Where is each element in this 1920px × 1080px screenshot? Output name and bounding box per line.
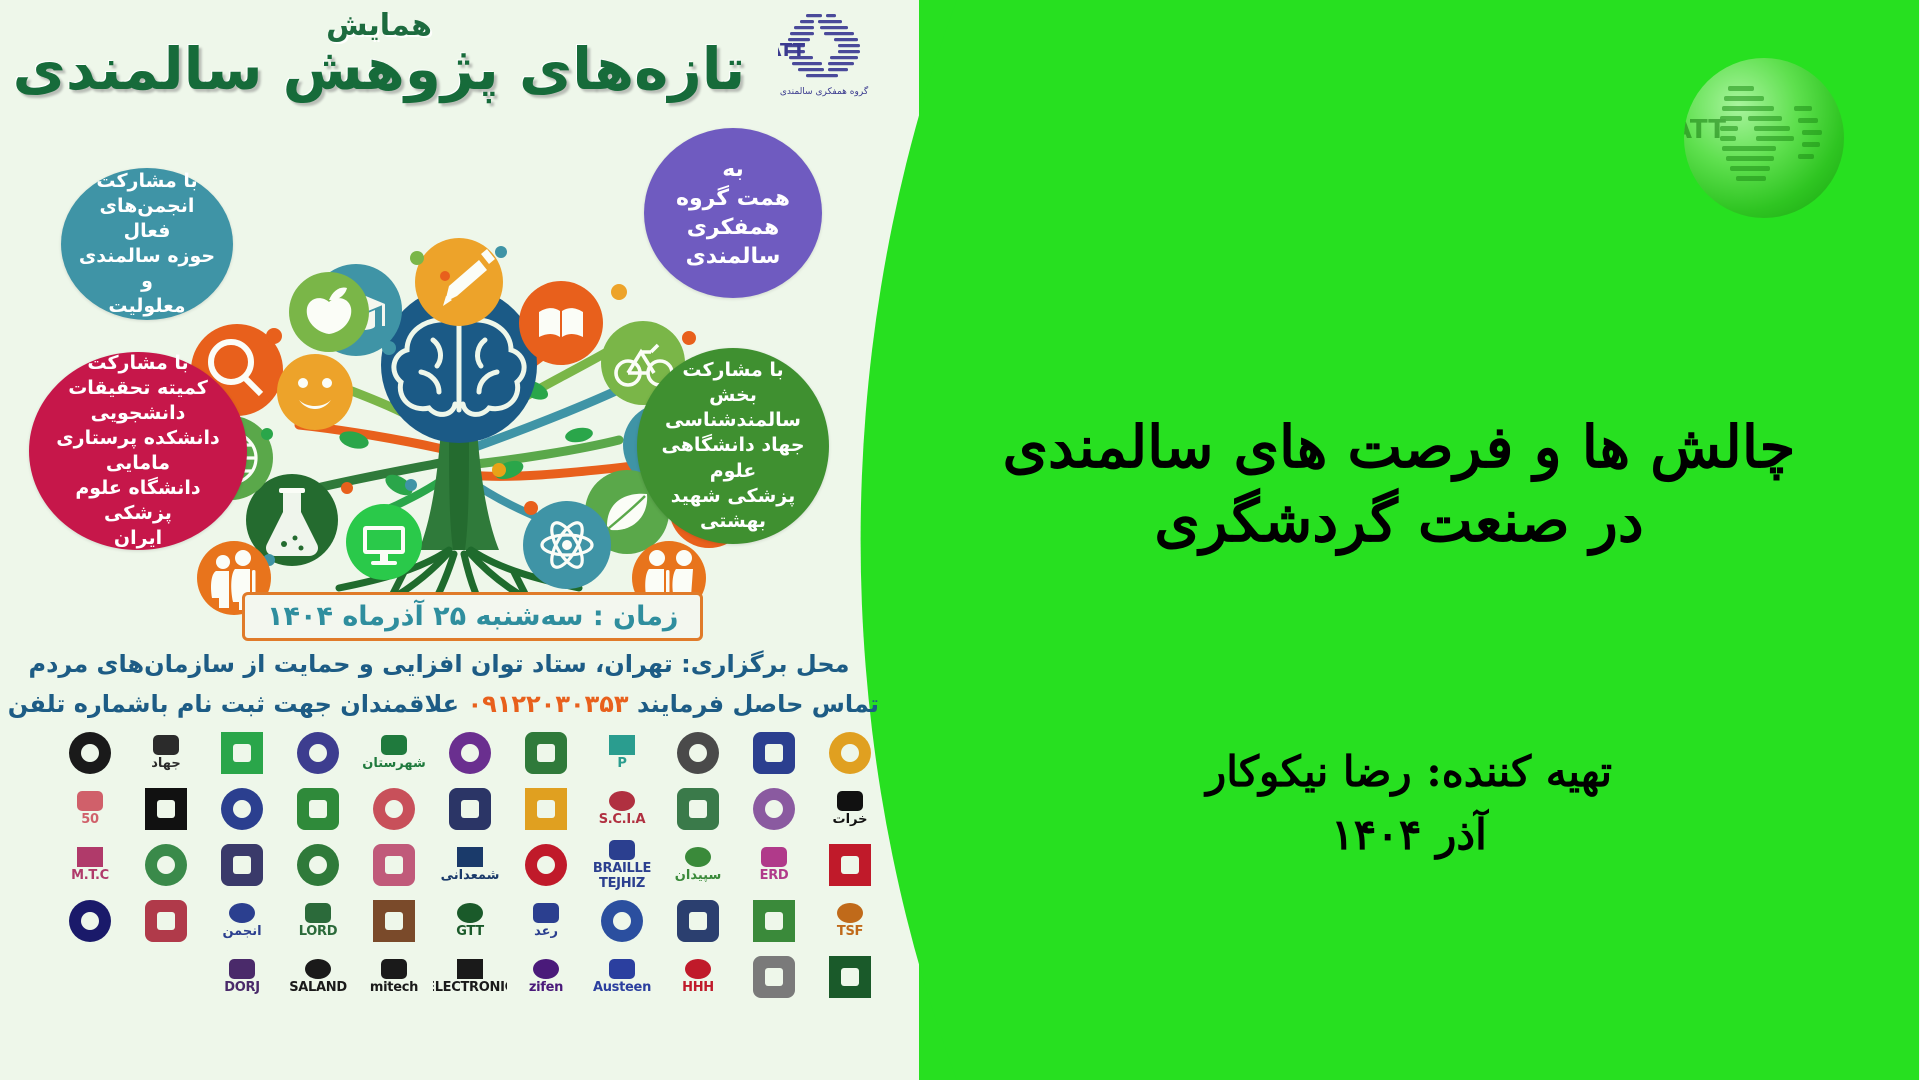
sponsor-logo-tehran-municipality-logo xyxy=(814,727,888,779)
sponsor-logo-kharrat-black-logo: خرات xyxy=(814,783,888,835)
sponsor-logo-anjoman-logo: انجمن xyxy=(206,895,280,947)
sponsor-logo-mark xyxy=(678,788,720,830)
sponsor-logo-brown-script-logo xyxy=(358,895,432,947)
sponsor-logo-label: S.C.I.A xyxy=(600,812,647,827)
sponsor-logo-mark xyxy=(146,788,188,830)
sponsor-logo-inner xyxy=(766,968,784,986)
sponsor-logo-mark xyxy=(526,788,568,830)
sponsor-logo-label: TSF xyxy=(838,924,864,939)
main-title: چالش ها و فرصت های سالمندی در صنعت گردشگ… xyxy=(950,410,1850,558)
sponsor-logo-mark xyxy=(78,847,104,867)
sponsor-logo-mark xyxy=(70,732,112,774)
main-title-line-1: چالش ها و فرصت های سالمندی xyxy=(950,410,1850,484)
sponsor-logo-scia-logo: S.C.I.A xyxy=(586,783,660,835)
bubble-partner-student-committee: با مشارکت کمیته تحقیقات دانشجویی دانشکده… xyxy=(30,352,248,550)
sponsor-logo-label: DORJ xyxy=(225,980,261,995)
bubble-teal-line-1: انجمن‌های فعال xyxy=(70,194,226,244)
sponsor-logo-inner xyxy=(386,800,404,818)
sponsor-logo-saland-logo: SALAND xyxy=(282,951,356,1003)
sponsor-logo-inner xyxy=(234,856,252,874)
sponsor-row: انجمنLORDGTTرعدTSF xyxy=(8,894,888,948)
sponsor-logo-fahmrokh-logo: ELECTRONIC xyxy=(434,951,508,1003)
sponsor-logo-label: ERD xyxy=(761,868,790,883)
bubble-crimson-line-4: ایران xyxy=(38,526,240,551)
sponsor-logo-label: LORD xyxy=(300,924,338,939)
sponsor-logo-mark xyxy=(222,844,264,886)
sponsor-logo-braille-tejhiz-logo: BRAILLE TEJHIZ xyxy=(586,839,660,891)
sponsor-logo-mark xyxy=(526,732,568,774)
sponsor-logo-mark xyxy=(374,788,416,830)
sponsor-logo-label: انجمن xyxy=(223,924,262,939)
poster-stage: ATT چالش ها و فرصت های سالمندی در صنعت گ… xyxy=(0,0,1920,1080)
sponsor-logo-mark xyxy=(458,959,484,979)
sponsor-logo-p-letter-logo: P xyxy=(586,727,660,779)
sponsor-logo-red-star-logo xyxy=(814,839,888,891)
sponsor-logo-label: شهرستان xyxy=(363,756,427,771)
sponsor-logo-mark xyxy=(754,956,796,998)
sponsor-logo-tsf-logo: TSF xyxy=(814,895,888,947)
svg-text:ATT: ATT xyxy=(1685,115,1727,145)
sponsor-logo-label: HHH xyxy=(683,980,715,995)
sponsor-logo-calligraphy-orange-logo xyxy=(510,783,584,835)
bubble-teal-line-3: معلولیت xyxy=(70,294,226,319)
bubble-purple-line-2: همفکری xyxy=(669,213,799,242)
sponsor-logo-mark xyxy=(830,844,872,886)
sponsor-logo-inner xyxy=(690,744,708,762)
sponsor-logo-label: P xyxy=(618,756,627,771)
bubble-teal-line-2: حوزه سالمندی و xyxy=(70,244,226,294)
sponsor-logo-inner xyxy=(82,744,100,762)
bubble-partner-associations: با مشارکت انجمن‌های فعال حوزه سالمندی و … xyxy=(62,168,234,320)
sponsor-row: جهادشهرستانP xyxy=(8,726,888,780)
sponsor-logo-dots-blue-logo xyxy=(738,727,812,779)
sponsor-logo-mark xyxy=(298,732,340,774)
sponsor-logo-zifen-logo: zifen xyxy=(510,951,584,1003)
sponsor-logo-mark xyxy=(298,844,340,886)
sponsor-logo-label: zifen xyxy=(530,980,564,995)
sponsor-logo-ornament-logo xyxy=(206,839,280,891)
event-venue: محل برگزاری: تهران، ستاد توان افزایی و ح… xyxy=(0,650,880,678)
presenter-date: آذر ۱۴۰۴ xyxy=(1030,803,1790,866)
sponsor-logo-flower-circle-logo xyxy=(510,727,584,779)
sponsor-logo-red-swirl-logo xyxy=(510,839,584,891)
bubble-purple-line-0: به xyxy=(669,155,799,184)
sponsor-logo-lamp-circle-logo xyxy=(662,895,736,947)
sponsor-logo-inner xyxy=(310,744,328,762)
sponsor-logo-music-figure-logo xyxy=(54,895,128,947)
bubble-crimson-line-3: دانشگاه علوم پزشکی xyxy=(38,476,240,526)
sponsor-logo-label: شمعدانی xyxy=(442,868,501,883)
sponsor-logo-sepidan-logo: سپیدان xyxy=(662,839,736,891)
sponsor-logo-mark xyxy=(458,847,484,867)
sponsor-logo-tulip-logo xyxy=(130,895,204,947)
sponsor-logo-runner-green-logo xyxy=(130,839,204,891)
bubble-green-line-2: جهاد دانشگاهی علوم xyxy=(646,433,822,483)
sponsor-logo-inner xyxy=(158,912,176,930)
sponsor-logo-label: سپیدان xyxy=(676,868,722,883)
sponsor-logo-book-purple-logo xyxy=(738,783,812,835)
sponsor-logo-mark xyxy=(838,903,864,923)
sponsor-logo-mtc-logo: M.T.C xyxy=(54,839,128,891)
sponsor-logo-mark xyxy=(78,791,104,811)
sponsor-logo-inner xyxy=(158,800,176,818)
event-date-banner: زمان : سه‌شنبه ۲۵ آذرماه ۱۴۰۴ xyxy=(243,592,704,641)
contact-phone[interactable]: ۰۹۱۲۲۰۳۰۳۵۳ xyxy=(468,690,629,718)
sponsor-logo-mark xyxy=(678,900,720,942)
presenter-block: تهیه کننده: رضا نیکوکار آذر ۱۴۰۴ xyxy=(1030,740,1790,866)
sponsor-logo-label: mitech xyxy=(371,980,419,995)
sponsor-logo-mark xyxy=(382,959,408,979)
bubble-green-line-1: بخش سالمندشناسی xyxy=(646,383,822,433)
sponsor-logo-mark xyxy=(146,900,188,942)
sponsor-logo-mark xyxy=(610,840,636,860)
bubble-organizer-group: به همت گروه همفکری سالمندی xyxy=(645,128,823,298)
sponsor-logo-iran-map-logo xyxy=(282,783,356,835)
sponsor-logo-label: ELECTRONIC xyxy=(434,980,508,995)
sponsor-logo-inner xyxy=(158,856,176,874)
sponsor-logo-mark xyxy=(230,903,256,923)
sponsor-logo-star-emblem-logo xyxy=(738,951,812,1003)
sponsor-logo-inner xyxy=(234,744,252,762)
bubble-green-line-0: با مشارکت xyxy=(646,358,822,383)
sponsor-logo-mark xyxy=(686,959,712,979)
sponsor-logo-shahrsetan-apple-logo: شهرستان xyxy=(358,727,432,779)
sponsor-logo-grid: جهادشهرستانP 50S.C.I.Aخرات M.T.CشمعدانیB… xyxy=(8,726,888,1004)
sponsor-logo-erd-logo: ERD xyxy=(738,839,812,891)
sponsor-logo-brain-ribbon-logo xyxy=(282,727,356,779)
sponsor-logo-lotus-green-logo xyxy=(206,727,280,779)
sponsor-logo-austeen-logo: Austeen xyxy=(586,951,660,1003)
sponsor-logo-mark xyxy=(458,903,484,923)
sponsor-logo-inner xyxy=(766,744,784,762)
sponsor-row: M.T.CشمعدانیBRAILLE TEJHIZسپیدانERD xyxy=(8,838,888,892)
sponsor-logo-fingerprint-red-logo xyxy=(358,783,432,835)
sponsor-logo-inner xyxy=(842,856,860,874)
sponsor-logo-inner xyxy=(538,856,556,874)
sponsor-logo-inner xyxy=(842,744,860,762)
sponsor-logo-inner xyxy=(310,800,328,818)
sponsor-logo-mark xyxy=(838,791,864,811)
sponsor-logo-mark xyxy=(70,900,112,942)
sponsor-logo-lord-logo: LORD xyxy=(282,895,356,947)
sponsor-logo-mark xyxy=(298,788,340,830)
sponsor-logo-wheelchair-logo xyxy=(662,727,736,779)
sponsor-logo-mark xyxy=(610,959,636,979)
sponsor-logo-raad-logo: رعد xyxy=(510,895,584,947)
sponsor-logo-dorj-logo: DORJ xyxy=(206,951,280,1003)
sponsor-logo-eye-black-logo xyxy=(130,783,204,835)
header-title: تازه‌های پژوهش سالمندی xyxy=(0,39,760,100)
sponsor-logo-label: GTT xyxy=(457,924,485,939)
sponsor-logo-mark xyxy=(382,735,408,755)
sponsor-logo-heart-bird-logo xyxy=(54,727,128,779)
sponsor-logo-mark xyxy=(754,788,796,830)
bubble-crimson-line-2: دانشکده پرستاری مامایی xyxy=(38,426,240,476)
sponsor-logo-mitech-logo: mitech xyxy=(358,951,432,1003)
sponsor-logo-blue-eye-logo xyxy=(206,783,280,835)
poster-left: همایش تازه‌های پژوهش سالمندی xyxy=(0,0,930,1080)
sponsor-logo-inner xyxy=(310,856,328,874)
att-globe-icon: ATT xyxy=(779,8,871,86)
att-sphere-icon: ATT xyxy=(1685,58,1845,218)
sponsor-logo-label: جهاد xyxy=(152,756,182,771)
sponsor-logo-mark xyxy=(762,847,788,867)
sponsor-logo-hhh-logo: HHH xyxy=(662,951,736,1003)
sponsor-row: DORJSALANDmitechELECTRONICzifenAusteenHH… xyxy=(8,950,888,1004)
presenter-name: تهیه کننده: رضا نیکوکار xyxy=(1030,740,1790,803)
sponsor-logo-mark xyxy=(534,903,560,923)
sponsor-logo-inner xyxy=(766,912,784,930)
sponsor-logo-inner xyxy=(614,912,632,930)
contact-suffix: تماس حاصل فرمایند xyxy=(638,690,880,718)
contact-prefix: علاقمندان جهت ثبت نام باشماره تلفن همراه xyxy=(0,690,460,718)
sponsor-logo-label: BRAILLE TEJHIZ xyxy=(586,861,660,891)
sponsor-logo-green-emblem-logo xyxy=(282,839,356,891)
sponsor-logo-mark xyxy=(830,732,872,774)
sponsor-logo-mark xyxy=(678,732,720,774)
sponsor-logo-label: Austeen xyxy=(594,980,652,995)
sponsor-logo-shamdani-logo: شمعدانی xyxy=(434,839,508,891)
sponsor-logo-mark xyxy=(146,844,188,886)
svg-text:ATT: ATT xyxy=(779,40,807,61)
sponsor-logo-inner xyxy=(690,800,708,818)
sponsor-logo-inner xyxy=(386,912,404,930)
sponsor-logo-inner xyxy=(462,744,480,762)
sponsor-logo-mark xyxy=(830,956,872,998)
sponsor-logo-mark xyxy=(374,844,416,886)
sponsor-logo-swirl-pink-logo xyxy=(358,839,432,891)
sponsor-logo-green-block-logo xyxy=(814,951,888,1003)
bubble-green-line-3: پزشکی شهید xyxy=(646,484,822,509)
sponsor-logo-green-hands-logo xyxy=(738,895,812,947)
bubble-teal-line-0: با مشارکت xyxy=(70,169,226,194)
bubble-partner-gerontology: با مشارکت بخش سالمندشناسی جهاد دانشگاهی … xyxy=(638,348,830,544)
sponsor-logo-mark xyxy=(450,732,492,774)
bubble-green-line-4: بهشتی xyxy=(646,509,822,534)
att-logo: ATT گروه همفکری سالمندی xyxy=(770,8,880,97)
sponsor-logo-mark xyxy=(374,900,416,942)
sponsor-logo-inner xyxy=(538,744,556,762)
sponsor-logo-blue-v-logo xyxy=(586,895,660,947)
bubble-crimson-line-1: کمیته تحقیقات دانشجویی xyxy=(38,376,240,426)
sponsor-logo-mark xyxy=(306,903,332,923)
sponsor-logo-inner xyxy=(82,912,100,930)
sponsor-logo-inner xyxy=(234,800,252,818)
bubble-crimson-line-0: با مشارکت xyxy=(38,351,240,376)
att-logo-caption: گروه همفکری سالمندی xyxy=(770,87,880,97)
sponsor-logo-inner xyxy=(538,800,556,818)
sponsor-logo-label: خرات xyxy=(834,812,869,827)
sponsor-logo-jahad-daneshgahi: جهاد xyxy=(130,727,204,779)
sponsor-logo-mark xyxy=(754,900,796,942)
sponsor-logo-purple-circle-logo xyxy=(434,727,508,779)
sponsor-logo-label: رعد xyxy=(535,924,559,939)
sponsor-logo-label: 50 xyxy=(82,812,100,827)
sponsor-row: 50S.C.I.Aخرات xyxy=(8,782,888,836)
sponsor-logo-mark xyxy=(526,844,568,886)
sponsor-logo-cube-navy-logo xyxy=(434,783,508,835)
bubble-purple-line-1: همت گروه xyxy=(669,184,799,213)
bubble-purple-line-3: سالمندی xyxy=(669,242,799,271)
sponsor-logo-mark xyxy=(754,732,796,774)
sponsor-logo-inner xyxy=(386,856,404,874)
sponsor-logo-mark xyxy=(222,788,264,830)
sponsor-logo-mark xyxy=(534,959,560,979)
sponsor-logo-inner xyxy=(766,800,784,818)
sponsor-logo-inner xyxy=(842,968,860,986)
sponsor-logo-mark xyxy=(610,791,636,811)
sponsor-logo-bird-circle-logo xyxy=(662,783,736,835)
sponsor-logo-inner xyxy=(462,800,480,818)
sponsor-logo-mark xyxy=(306,959,332,979)
sponsor-logo-fifty-plus-logo: 50 xyxy=(54,783,128,835)
sponsor-logo-gtt-logo: GTT xyxy=(434,895,508,947)
sponsor-logo-mark xyxy=(686,847,712,867)
sponsor-logo-label: M.T.C xyxy=(72,868,110,883)
event-contact: تماس حاصل فرمایند ۰۹۱۲۲۰۳۰۳۵۳ علاقمندان … xyxy=(0,690,880,718)
sponsor-logo-inner xyxy=(690,912,708,930)
poster-header: همایش تازه‌های پژوهش سالمندی xyxy=(0,8,760,100)
sponsor-logo-mark xyxy=(602,900,644,942)
sponsor-logo-mark xyxy=(154,735,180,755)
sponsor-logo-mark xyxy=(450,788,492,830)
main-title-line-2: در صنعت گردشگری xyxy=(950,484,1850,558)
sponsor-logo-mark xyxy=(222,732,264,774)
sponsor-logo-mark xyxy=(610,735,636,755)
sponsor-logo-mark xyxy=(230,959,256,979)
sponsor-logo-label: SALAND xyxy=(290,980,348,995)
